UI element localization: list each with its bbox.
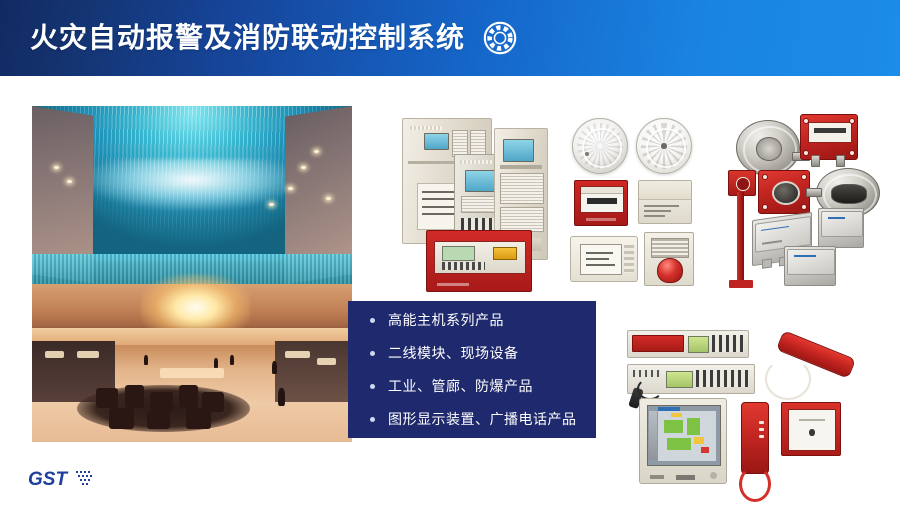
gst-dotted-swoosh-icon <box>76 471 92 485</box>
repeater-display-panel <box>570 236 638 282</box>
smoke-detector-ring-icon <box>483 21 517 55</box>
emergency-broadcast-rack-red <box>627 330 749 358</box>
explosion-proof-group <box>722 112 892 292</box>
fire-telephone-handset-cord-loop <box>739 466 771 502</box>
gst-wordmark: GST <box>28 469 68 490</box>
manual-call-point <box>574 180 628 226</box>
sounder-strobe <box>644 232 694 286</box>
fire-alarm-panel-red <box>426 230 532 292</box>
mall-atrium-photo <box>32 106 352 442</box>
pole-mounted-call-point-red <box>728 170 754 288</box>
bullet-label: 图形显示装置、广播电话产品 <box>388 412 577 426</box>
photo-storefront-right <box>275 341 352 401</box>
microphone-cord <box>637 378 663 400</box>
explosion-proof-call-point-red <box>758 170 810 214</box>
fire-telephone-wall-red <box>741 402 769 474</box>
input-output-module <box>638 180 692 224</box>
broadcast-telephone-group <box>625 330 890 505</box>
page-title: 火灾自动报警及消防联动控制系统 <box>30 24 465 52</box>
bullet-dot-icon <box>370 384 375 389</box>
bullet-label: 工业、管廊、防爆产品 <box>388 379 533 393</box>
slide-root: 火灾自动报警及消防联动控制系统 <box>0 0 900 510</box>
list-item: 高能主机系列产品 <box>370 304 596 337</box>
heat-detector <box>636 118 692 174</box>
svg-text:GST: GST <box>28 469 68 490</box>
gst-logo: GST <box>28 466 120 492</box>
bullet-label: 二线模块、现场设备 <box>388 346 519 360</box>
field-device-group <box>568 112 696 292</box>
bullet-dot-icon <box>370 318 375 323</box>
industrial-junction-box-grey-third <box>784 246 836 286</box>
explosion-proof-alarm-box-red <box>800 114 858 160</box>
list-item: 二线模块、现场设备 <box>370 337 596 370</box>
bullet-dot-icon <box>370 351 375 356</box>
smoke-detector <box>572 118 628 174</box>
industrial-junction-box-grey-small <box>818 208 864 248</box>
graphic-display-terminal <box>639 398 727 484</box>
slide-header: 火灾自动报警及消防联动控制系统 <box>0 0 900 76</box>
bullet-dot-icon <box>370 417 375 422</box>
conduit-stub <box>806 188 822 197</box>
handset-cord <box>765 358 811 400</box>
bullet-label: 高能主机系列产品 <box>388 313 504 327</box>
flameproof-detector-enclosure <box>736 120 800 176</box>
list-item: 工业、管廊、防爆产品 <box>370 370 596 403</box>
feature-bullet-panel: 高能主机系列产品 二线模块、现场设备 工业、管廊、防爆产品 图形显示装置、广播电… <box>348 301 596 438</box>
control-panel-group <box>398 112 568 292</box>
list-item: 图形显示装置、广播电话产品 <box>370 403 596 436</box>
fire-telephone-jack-red <box>781 402 841 456</box>
